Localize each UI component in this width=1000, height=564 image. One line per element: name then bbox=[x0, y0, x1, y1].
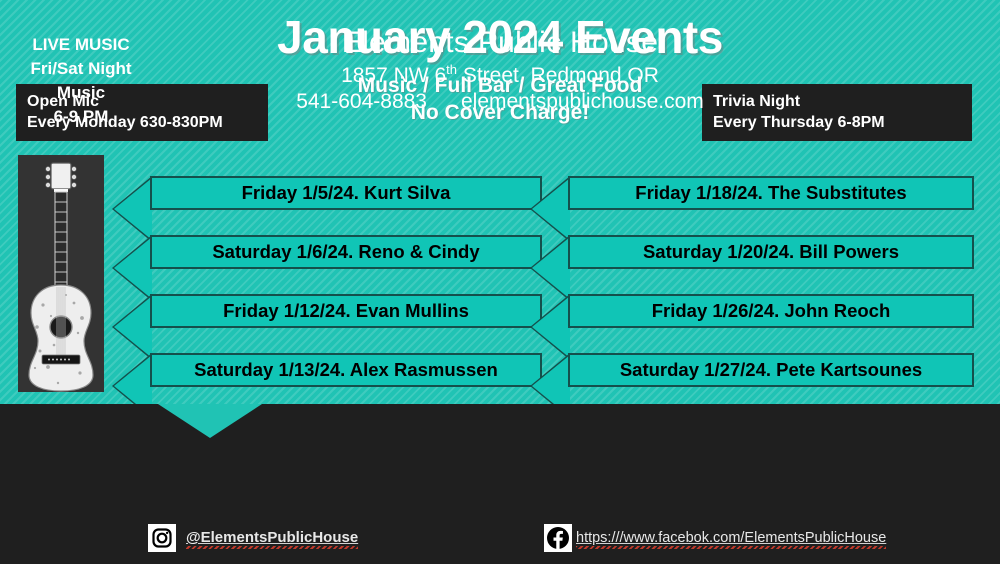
event-banner-left-2[interactable]: Saturday 1/6/24. Reno & Cindy bbox=[150, 235, 542, 269]
event-banner-right-1[interactable]: Friday 1/18/24. The Substitutes bbox=[568, 176, 974, 210]
live-music-line-2: Fri/Sat Night bbox=[6, 57, 156, 81]
right-arrowhead-2 bbox=[532, 237, 570, 299]
event-poster: January 2024 Events Music / Full Bar / G… bbox=[0, 0, 1000, 564]
event-banner-right-3[interactable]: Friday 1/26/24. John Reoch bbox=[568, 294, 974, 328]
facebook-icon[interactable] bbox=[544, 524, 572, 552]
venue-name: Elements Public House bbox=[170, 26, 830, 60]
right-arrowhead-1 bbox=[532, 178, 570, 240]
event-banner-left-1[interactable]: Friday 1/5/24. Kurt Silva bbox=[150, 176, 542, 210]
live-music-line-4: 6-9 PM bbox=[6, 105, 156, 129]
address-prefix: 1857 NW 6 bbox=[341, 64, 446, 87]
left-arrowhead-3 bbox=[114, 296, 152, 358]
event-label: Saturday 1/13/24. Alex Rasmussen bbox=[194, 359, 498, 381]
live-music-line-3: Music bbox=[6, 81, 156, 105]
live-music-schedule: LIVE MUSIC Fri/Sat Night Music 6-9 PM bbox=[6, 33, 156, 130]
venue-address: 1857 NW 6th Street, Redmond OR bbox=[170, 62, 830, 88]
event-label: Friday 1/18/24. The Substitutes bbox=[635, 182, 906, 204]
left-arrowhead-2 bbox=[114, 237, 152, 299]
event-label: Friday 1/5/24. Kurt Silva bbox=[242, 182, 451, 204]
acoustic-guitar-image bbox=[18, 155, 104, 392]
left-arrowhead-1 bbox=[114, 178, 152, 240]
guitar-icon bbox=[18, 155, 104, 392]
event-banner-left-4[interactable]: Saturday 1/13/24. Alex Rasmussen bbox=[150, 353, 542, 387]
venue-phone[interactable]: 541-604-8883 bbox=[296, 90, 427, 113]
event-label: Saturday 1/27/24. Pete Kartsounes bbox=[620, 359, 922, 381]
instagram-icon[interactable] bbox=[148, 524, 176, 552]
instagram-handle[interactable]: @ElementsPublicHouse bbox=[186, 529, 358, 549]
event-banner-left-3[interactable]: Friday 1/12/24. Evan Mullins bbox=[150, 294, 542, 328]
address-suffix: Street, Redmond OR bbox=[457, 64, 659, 87]
facebook-url[interactable]: https:///www.facebok.com/ElementsPublicH… bbox=[576, 530, 886, 549]
address-ordinal: th bbox=[446, 62, 457, 77]
teal-pointer-triangle bbox=[158, 404, 262, 438]
event-banner-right-4[interactable]: Saturday 1/27/24. Pete Kartsounes bbox=[568, 353, 974, 387]
instagram-glyph bbox=[152, 528, 172, 548]
live-music-line-1: LIVE MUSIC bbox=[6, 33, 156, 57]
event-label: Saturday 1/6/24. Reno & Cindy bbox=[212, 241, 479, 263]
event-label: Friday 1/12/24. Evan Mullins bbox=[223, 300, 469, 322]
venue-contact: 541-604-8883elementspublichouse.com bbox=[170, 90, 830, 114]
facebook-glyph bbox=[546, 526, 570, 550]
event-label: Saturday 1/20/24. Bill Powers bbox=[643, 241, 899, 263]
event-label: Friday 1/26/24. John Reoch bbox=[652, 300, 891, 322]
trivia-night-schedule: Every Thursday 6-8PM bbox=[713, 112, 961, 133]
event-banner-right-2[interactable]: Saturday 1/20/24. Bill Powers bbox=[568, 235, 974, 269]
right-arrowhead-3 bbox=[532, 296, 570, 358]
venue-website[interactable]: elementspublichouse.com bbox=[461, 90, 704, 113]
